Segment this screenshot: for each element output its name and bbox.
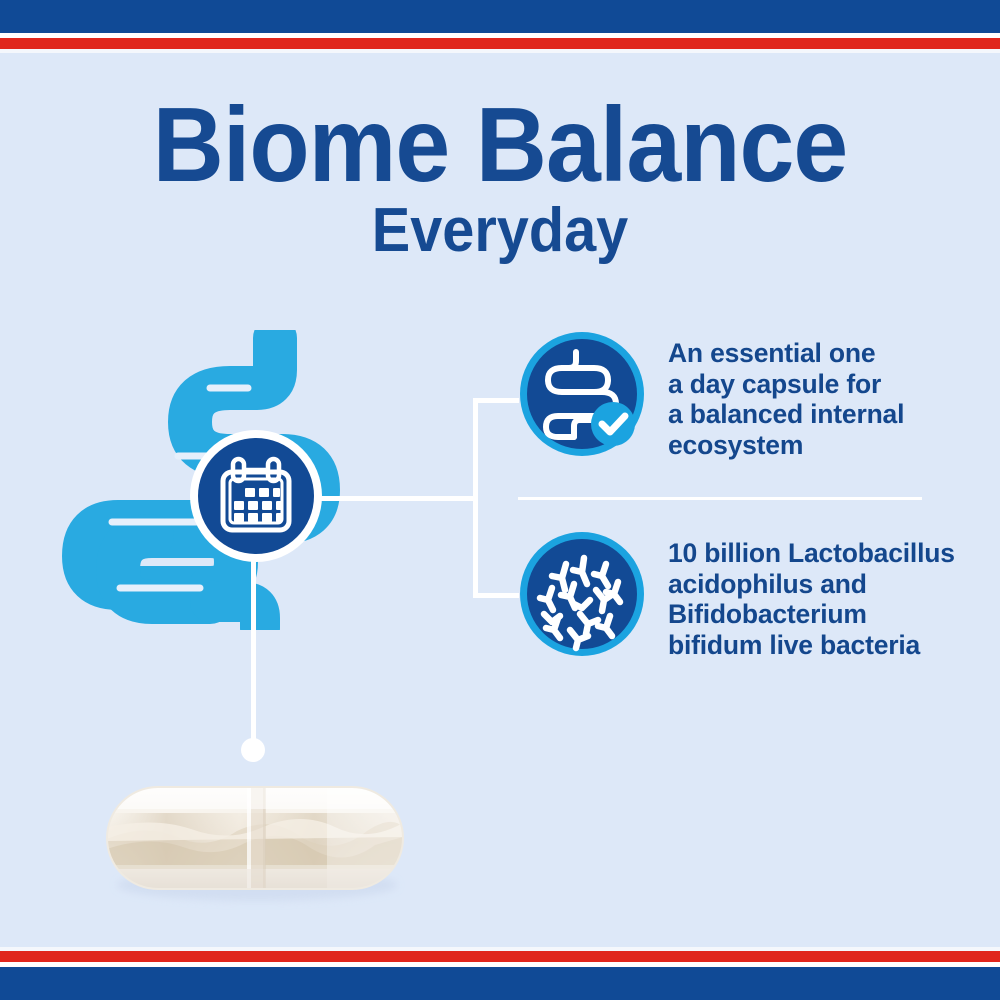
bracket-connector	[473, 398, 478, 598]
top-blue-band	[0, 0, 1000, 33]
top-red-band	[0, 38, 1000, 49]
bottom-blue-band	[0, 967, 1000, 1000]
connector-dot	[241, 738, 265, 762]
intestine-check-icon	[518, 330, 646, 458]
white-capsule-photo	[95, 765, 415, 910]
bracket-arm-bottom	[473, 593, 519, 598]
top-white-gap-2	[0, 49, 1000, 53]
check-badge	[591, 402, 635, 446]
poster-canvas: Biome Balance Everyday	[0, 0, 1000, 1000]
feature-row-2: 10 billion Lactobacillus acidophilus and…	[518, 530, 955, 660]
feature-row-1: An essential one a day capsule for a bal…	[518, 330, 904, 460]
page-subtitle: Everyday	[35, 200, 965, 262]
feature-text-1: An essential one a day capsule for a bal…	[668, 338, 904, 460]
page-title: Biome Balance	[35, 92, 965, 198]
feature-text-2: 10 billion Lactobacillus acidophilus and…	[668, 538, 955, 660]
horizontal-divider	[518, 497, 922, 500]
vertical-connector	[251, 560, 256, 750]
bracket-arm-top	[473, 398, 519, 403]
bottom-red-band	[0, 951, 1000, 962]
bacteria-icon	[518, 530, 646, 658]
connector-horizontal	[312, 496, 477, 501]
calendar-badge	[188, 428, 324, 564]
